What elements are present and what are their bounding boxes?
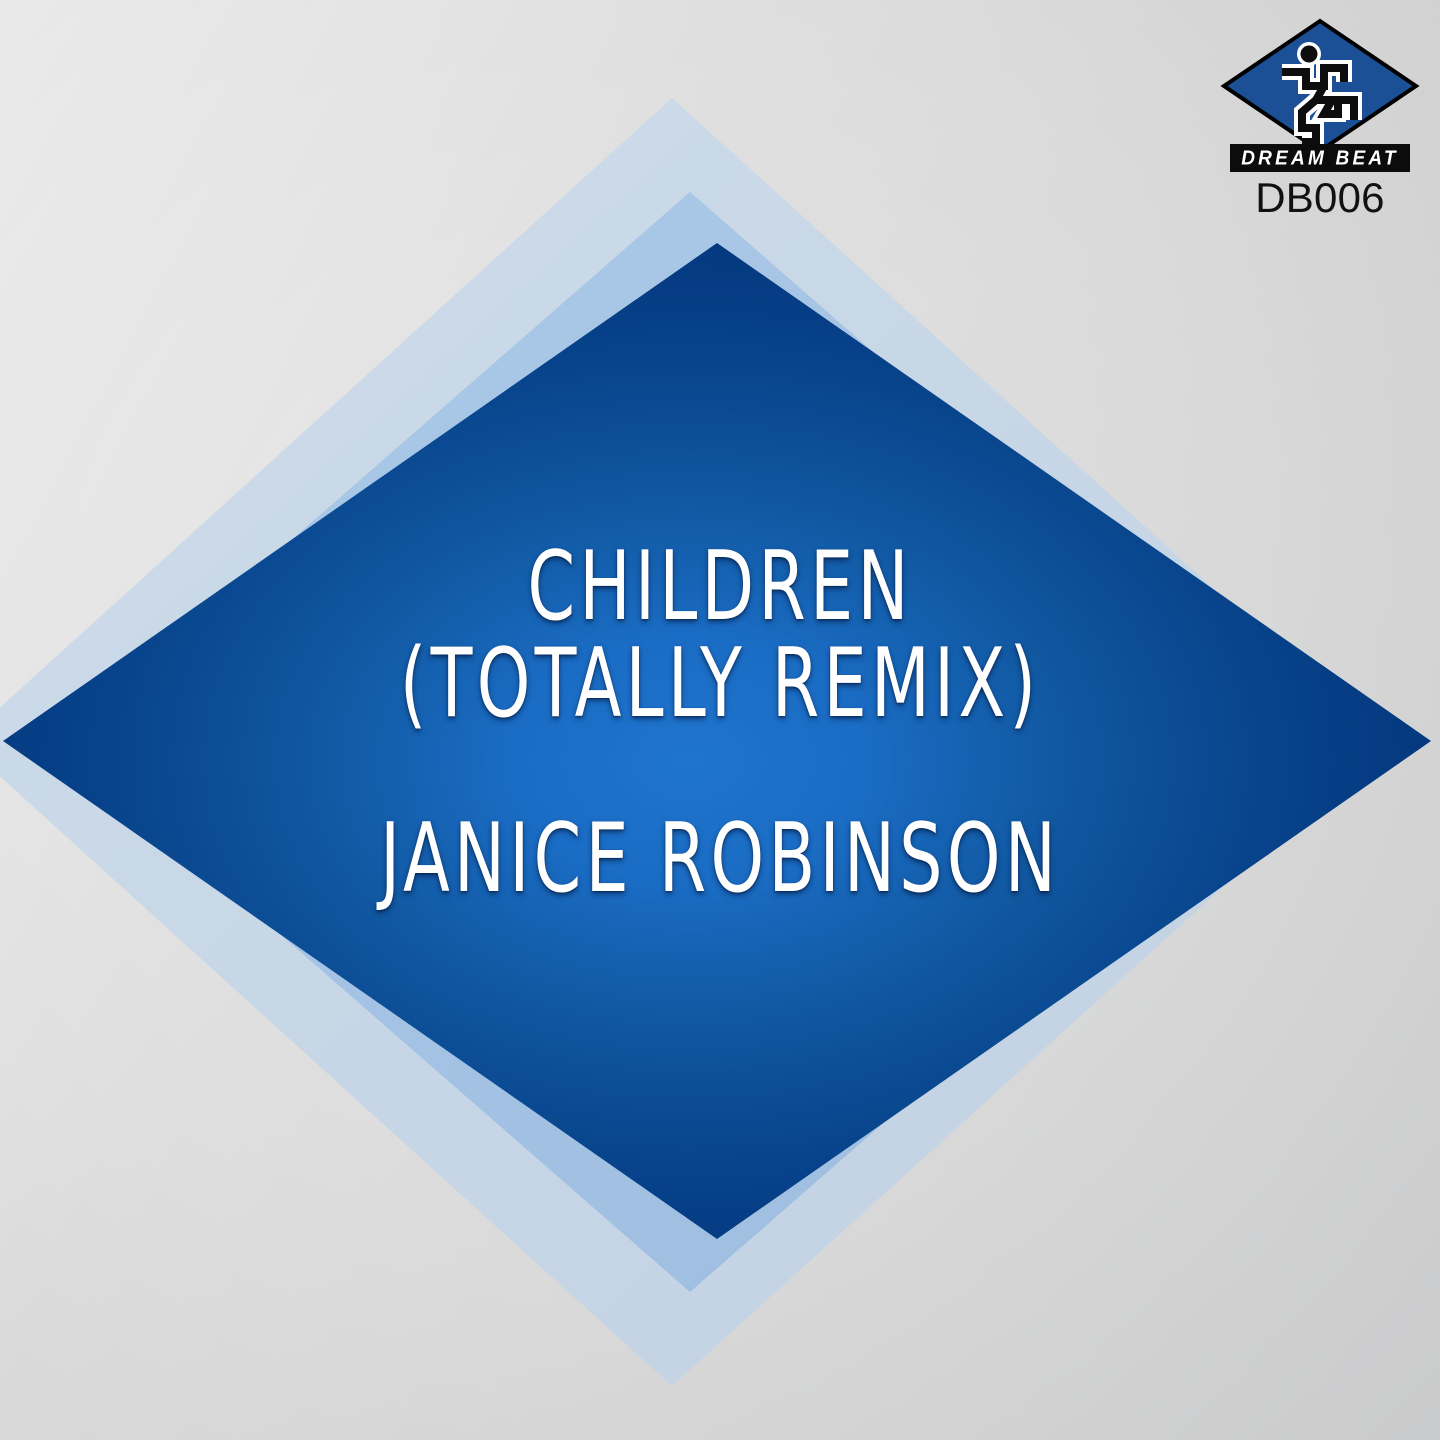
- catalog-number: DB006: [1214, 176, 1426, 220]
- logo-diamond-mark: [1220, 16, 1420, 156]
- diamond-inner-shape: [3, 243, 1431, 1239]
- logo-name-text: DREAM BEAT: [1241, 148, 1399, 169]
- record-label-logo: DREAM BEAT DB006: [1214, 16, 1426, 220]
- logo-name-bar: DREAM BEAT: [1230, 144, 1410, 172]
- album-cover: CHILDREN (TOTALLY REMIX) JANICE ROBINSON: [0, 0, 1440, 1440]
